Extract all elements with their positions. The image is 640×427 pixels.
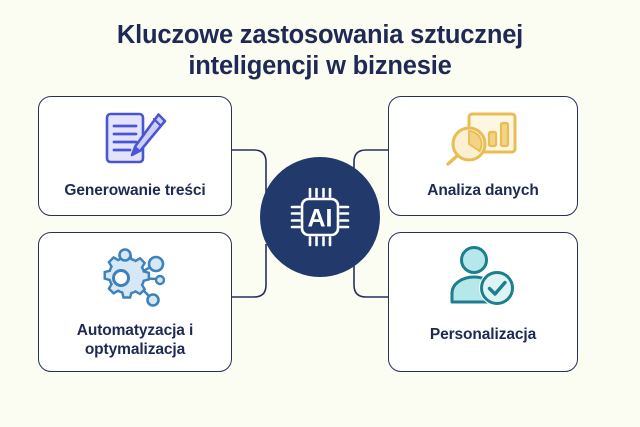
gear-network-icon bbox=[95, 245, 175, 311]
infographic-canvas: Kluczowe zastosowania sztucznej intelige… bbox=[0, 0, 640, 427]
card-automatyzacja-optymalizacja[interactable]: Automatyzacja i optymalizacja bbox=[38, 232, 232, 372]
card-label-line-2: optymalizacja bbox=[85, 341, 185, 358]
user-check-icon bbox=[445, 245, 521, 309]
hub-label: AI bbox=[308, 205, 333, 233]
card-label-generowanie-tresci: Generowanie treści bbox=[58, 181, 211, 200]
card-personalizacja[interactable]: Personalizacja bbox=[388, 232, 578, 372]
connector-automation-to-hub bbox=[232, 244, 266, 297]
card-label-personalizacja: Personalizacja bbox=[424, 325, 542, 344]
card-generowanie-tresci[interactable]: Generowanie treści bbox=[38, 96, 232, 216]
connector-content-to-hub bbox=[232, 150, 266, 196]
document-pen-icon bbox=[96, 108, 174, 170]
card-label-analiza-danych: Analiza danych bbox=[421, 181, 544, 200]
cpu-chip-icon: AI bbox=[284, 181, 356, 253]
magnifier-chart-icon bbox=[443, 108, 523, 170]
card-label-line-1: Automatyzacja i bbox=[77, 322, 194, 339]
ai-hub-circle[interactable]: AI bbox=[260, 157, 380, 277]
card-analiza-danych[interactable]: Analiza danych bbox=[388, 96, 578, 216]
card-label-automatyzacja-optymalizacja: Automatyzacja i optymalizacja bbox=[71, 321, 200, 359]
